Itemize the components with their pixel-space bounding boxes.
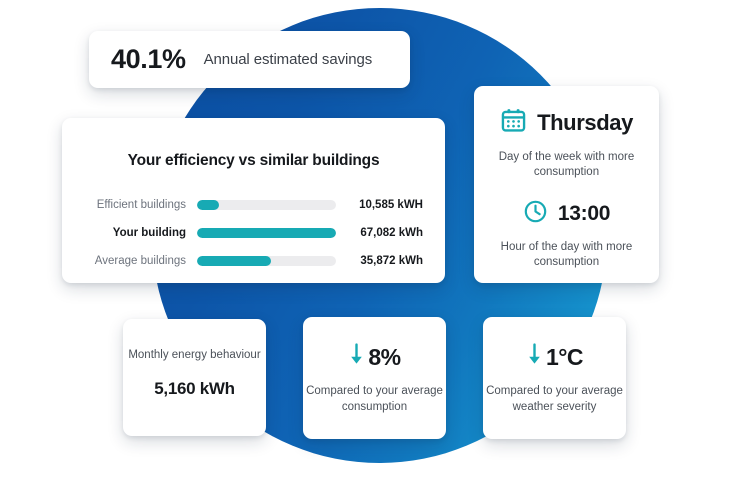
compare-heading: 1°C (483, 342, 626, 372)
savings-percent-value: 40.1% (111, 44, 186, 75)
infographic-root: 40.1% Annual estimated savings Your effi… (0, 0, 745, 477)
bar-track (197, 228, 336, 238)
monthly-behaviour-value: 5,160 kWh (123, 379, 266, 399)
day-heading: Thursday (488, 107, 645, 139)
bar-label: Your building (84, 227, 197, 239)
savings-label: Annual estimated savings (204, 51, 373, 68)
compare-weather-card: 1°C Compared to your average weather sev… (483, 317, 626, 439)
arrow-down-icon (526, 342, 543, 372)
efficiency-card-title: Your efficiency vs similar buildings (84, 152, 423, 170)
monthly-behaviour-card: Monthly energy behaviour 5,160 kWh (123, 319, 266, 436)
peak-day-value: Thursday (537, 110, 633, 136)
bar-label: Efficient buildings (84, 199, 197, 211)
bar-value: 35,872 kWh (336, 255, 423, 267)
monthly-behaviour-label: Monthly energy behaviour (123, 347, 266, 363)
efficiency-row-your-building: Your building 67,082 kWh (84, 220, 423, 245)
compare-consumption-value: 8% (368, 344, 400, 371)
calendar-icon (500, 107, 527, 139)
bar-fill (197, 200, 219, 210)
efficiency-bar-list: Efficient buildings 10,585 kWH Your buil… (84, 192, 423, 273)
hour-heading: 13:00 (488, 199, 645, 229)
efficiency-comparison-card: Your efficiency vs similar buildings Eff… (62, 118, 445, 283)
bar-fill (197, 228, 336, 238)
compare-consumption-card: 8% Compared to your average consumption (303, 317, 446, 439)
bar-fill (197, 256, 271, 266)
compare-heading: 8% (303, 342, 446, 372)
peak-hour-caption: Hour of the day with more consumption (488, 240, 645, 270)
compare-consumption-caption: Compared to your average consumption (303, 383, 446, 415)
bar-track (197, 256, 336, 266)
bar-value: 67,082 kWh (336, 227, 423, 239)
arrow-down-icon (348, 342, 365, 372)
peak-hour-value: 13:00 (558, 202, 610, 226)
efficiency-row-average-buildings: Average buildings 35,872 kWh (84, 248, 423, 273)
bar-value: 10,585 kWH (336, 199, 423, 211)
peak-day-caption: Day of the week with more consumption (488, 150, 645, 180)
annual-savings-card: 40.1% Annual estimated savings (89, 31, 410, 88)
efficiency-row-efficient-buildings: Efficient buildings 10,585 kWH (84, 192, 423, 217)
peak-consumption-card: Thursday Day of the week with more consu… (474, 86, 659, 283)
compare-weather-value: 1°C (546, 344, 583, 371)
bar-track (197, 200, 336, 210)
bar-label: Average buildings (84, 255, 197, 267)
clock-icon (523, 199, 548, 229)
compare-weather-caption: Compared to your average weather severit… (483, 383, 626, 415)
